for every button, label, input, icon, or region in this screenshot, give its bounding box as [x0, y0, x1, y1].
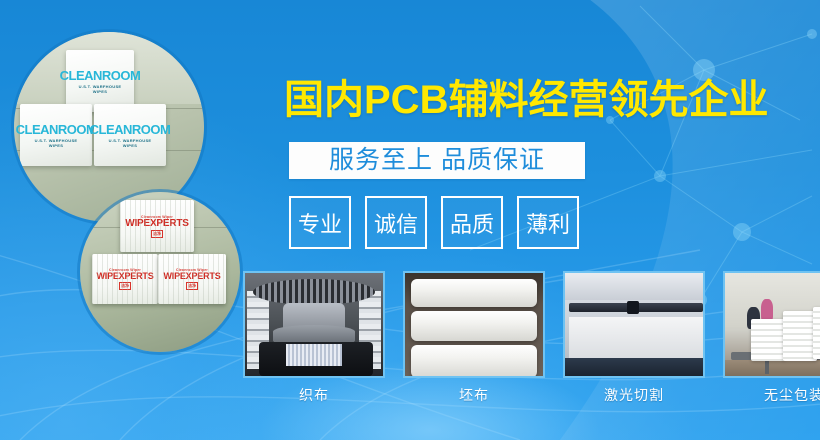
thumbnail-caption: 坯布 [403, 385, 545, 405]
feature-tag-integrity: 诚信 [365, 196, 427, 249]
banner-subtitle: 服务至上 品质保证 [329, 148, 545, 173]
feature-tag-group: 专业 诚信 品质 薄利 [289, 196, 579, 249]
process-thumbnail-group: 织布 坯布 激光切割 [243, 271, 820, 405]
package-wipes-line: WIPES [123, 143, 137, 148]
thumbnail-cleanroom-packing [723, 271, 820, 378]
process-item-cleanroom-packing: 无尘包装 [723, 271, 820, 405]
package-wipes-line: WIPES [49, 143, 63, 148]
wipexperts-package: Cleanroom Wiper WIPEXPERTS 洁净 [158, 254, 226, 304]
process-item-weaving: 织布 [243, 271, 385, 405]
package-label: CLEANROOM [16, 123, 97, 136]
package-wipes-line: WIPES [93, 89, 107, 94]
cleanroom-package: CLEANROOM U.S.T. WARFHOUSE WIPES [94, 104, 166, 166]
thumbnail-caption: 织布 [243, 385, 385, 405]
wipexperts-package: Cleanroom Wiper WIPEXPERTS 洁净 [92, 254, 158, 304]
product-photo-group: CLEANROOM U.S.T. WARFHOUSE WIPES CLEANRO… [0, 0, 250, 380]
process-item-greige-fabric: 坯布 [403, 271, 545, 405]
wipexperts-packages-photo: Cleanroom Wiper WIPEXPERTS 洁净 Cleanroom … [80, 192, 240, 352]
feature-tag-quality: 品质 [441, 196, 503, 249]
package-label: CLEANROOM [90, 123, 171, 136]
cleanroom-package: CLEANROOM U.S.T. WARFHOUSE WIPES [20, 104, 92, 166]
thumbnail-weaving [243, 271, 385, 378]
promo-banner: CLEANROOM U.S.T. WARFHOUSE WIPES CLEANRO… [0, 0, 820, 440]
process-item-laser-cutting: 激光切割 [563, 271, 705, 405]
thumbnail-caption: 激光切割 [563, 385, 705, 405]
wipexperts-package: Cleanroom Wiper WIPEXPERTS 洁净 [120, 200, 194, 252]
feature-tag-professional: 专业 [289, 196, 351, 249]
thumbnail-caption: 无尘包装 [723, 385, 820, 405]
banner-headline: 国内PCB辅料经营领先企业 [284, 74, 784, 126]
cleanroom-package: CLEANROOM U.S.T. WARFHOUSE WIPES [66, 50, 134, 112]
feature-tag-low-margin: 薄利 [517, 196, 579, 249]
package-label: CLEANROOM [60, 69, 141, 82]
banner-subtitle-box: 服务至上 品质保证 [289, 142, 585, 179]
thumbnail-greige-fabric [403, 271, 545, 378]
thumbnail-laser-cutting [563, 271, 705, 378]
